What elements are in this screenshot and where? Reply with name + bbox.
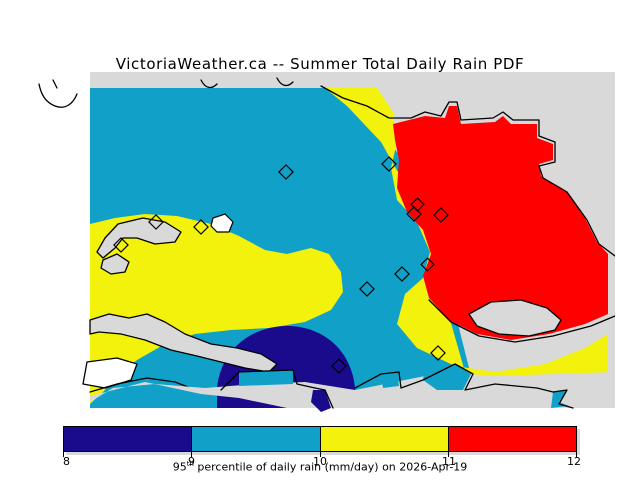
weather-map-page: VictoriaWeather.ca -- Summer Total Daily… [0, 0, 640, 480]
colorbar-caption: 95th percentile of daily rain (mm/day) o… [60, 460, 580, 474]
colorbar-caption-superscript: th [187, 460, 194, 468]
page-title: VictoriaWeather.ca -- Summer Total Daily… [0, 55, 640, 73]
colorbar-caption-pre: 95 [173, 461, 187, 474]
bay-cyan-4 [239, 370, 293, 386]
rain-contour-map[interactable] [25, 72, 615, 412]
coast-fragment-tick [53, 80, 57, 88]
colorbar-segment-9-10[interactable] [191, 427, 319, 451]
map-panel [25, 72, 615, 412]
colorbar-panel: 8 9 10 11 12 95th percentile of daily ra… [60, 424, 580, 476]
colorbar-segment-11-12[interactable] [448, 427, 576, 451]
coast-fragment-top-left [39, 84, 77, 107]
bay-cyan-1 [381, 372, 399, 388]
colorbar-segment-8-9[interactable] [64, 427, 191, 451]
colorbar-caption-post: percentile of daily rain (mm/day) on 202… [194, 461, 467, 474]
colorbar[interactable] [63, 426, 577, 452]
colorbar-segment-10-11[interactable] [320, 427, 448, 451]
